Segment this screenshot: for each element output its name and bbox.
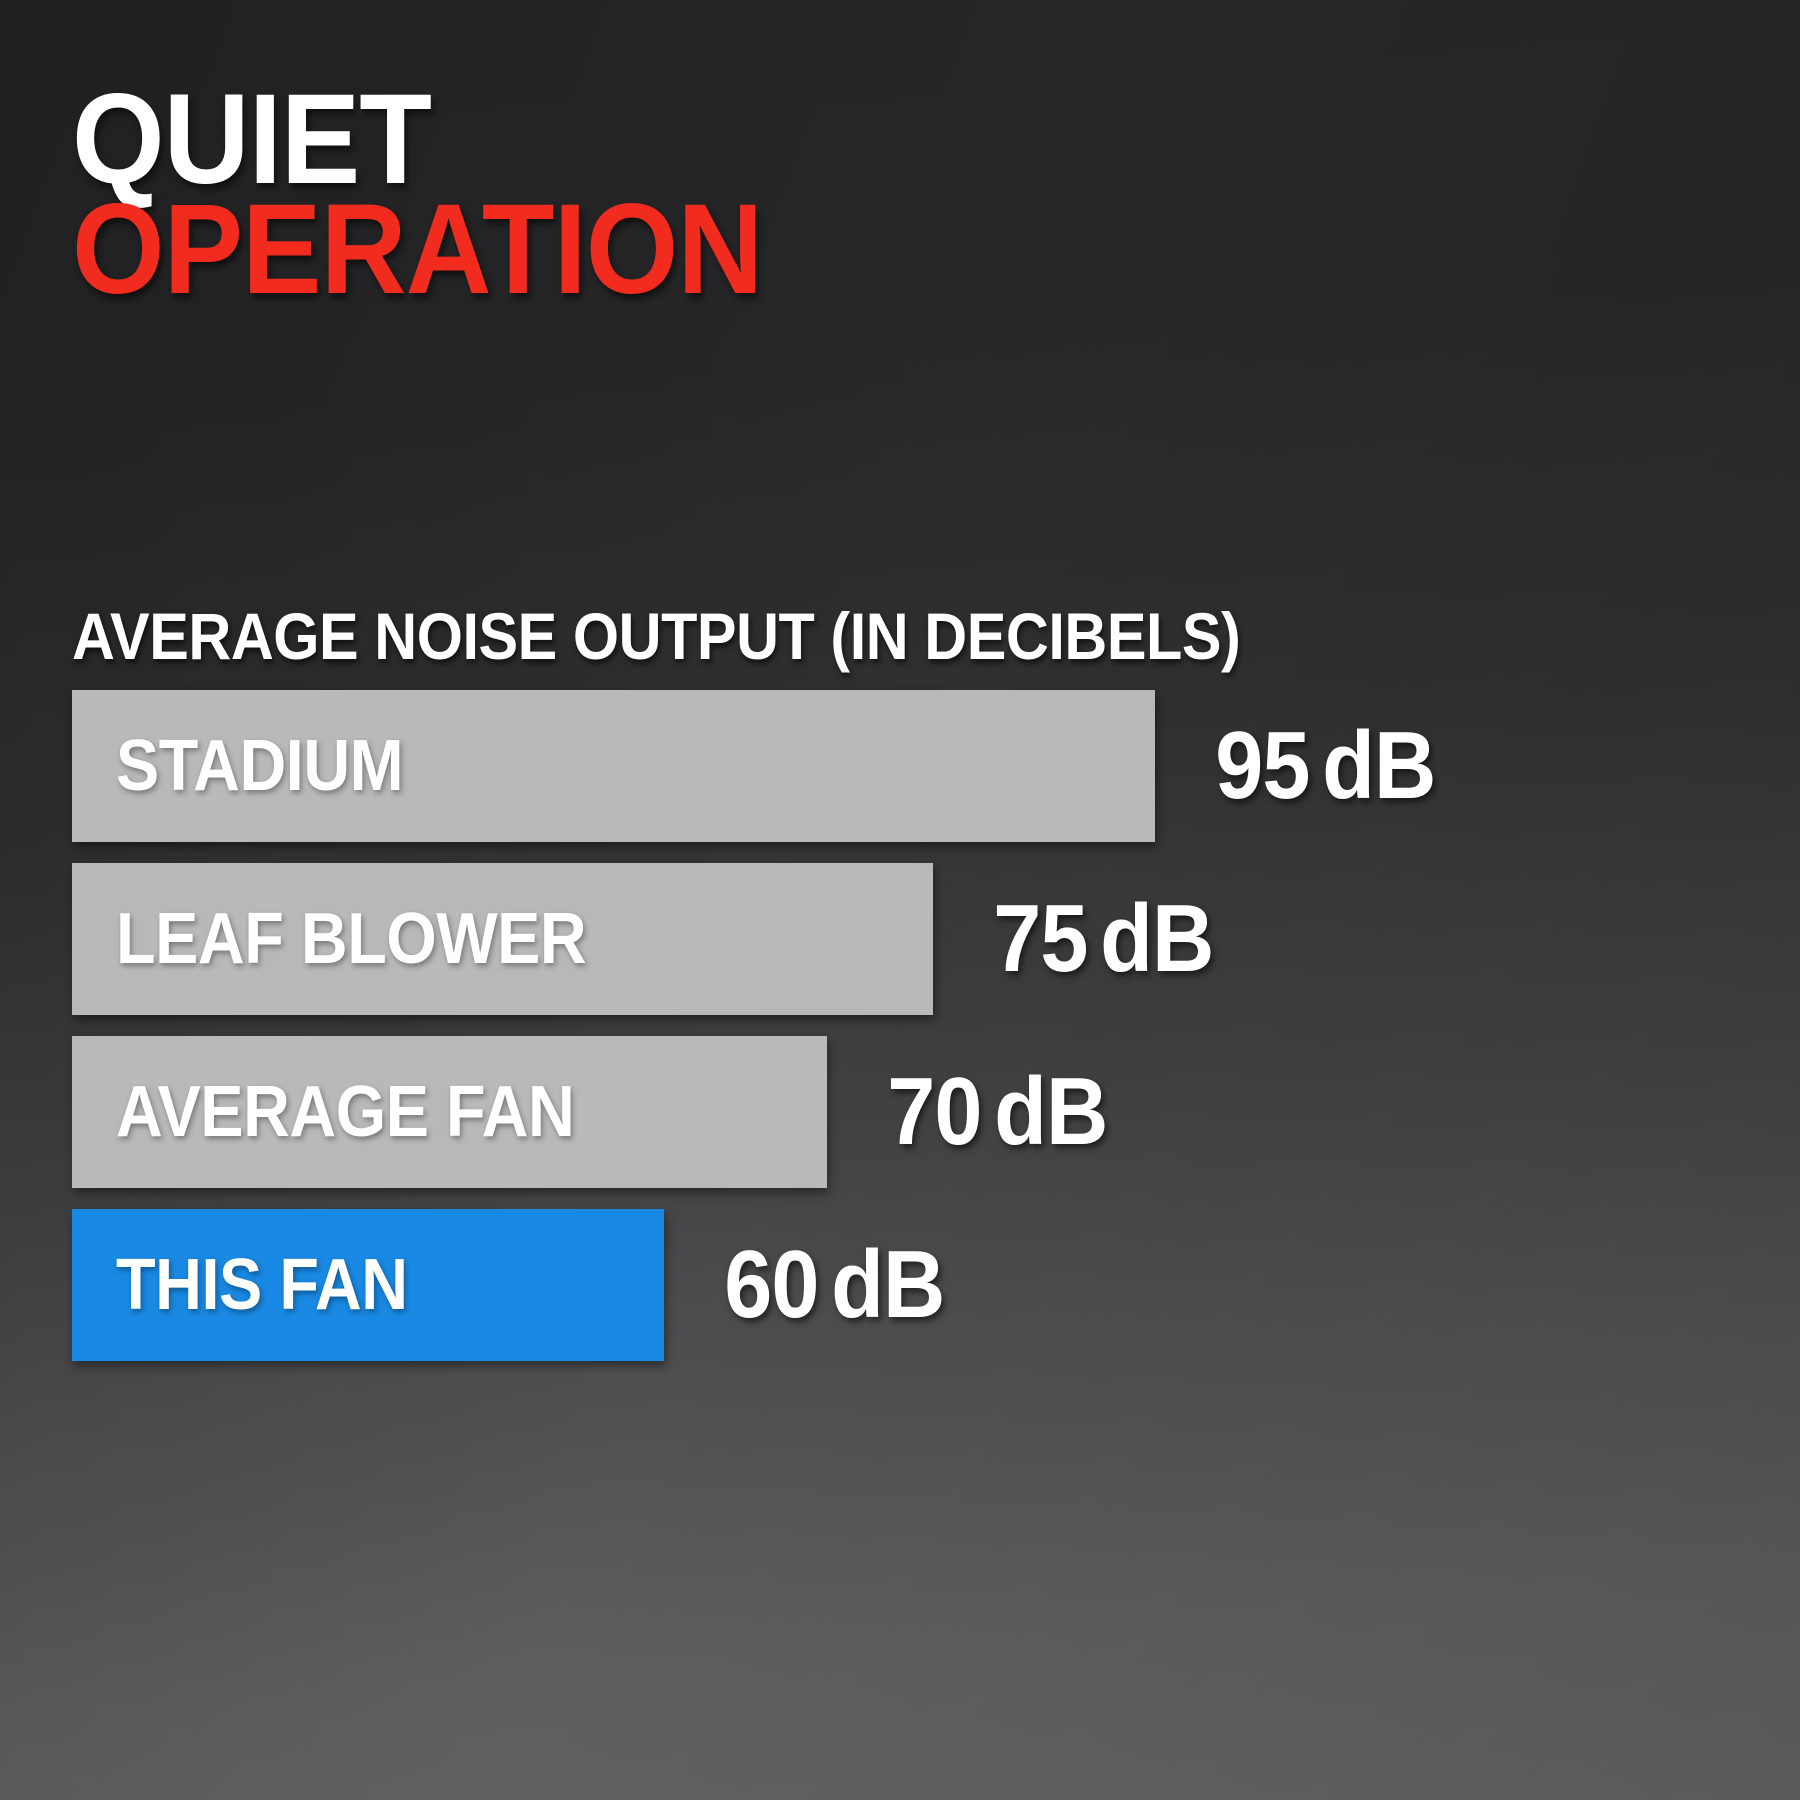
bar-this-fan: THIS FAN: [72, 1209, 664, 1361]
bar-value-number-leaf-blower: 75: [993, 884, 1087, 994]
headline-line-2: OPERATION: [72, 196, 762, 304]
bar-value-number-stadium: 95: [1215, 711, 1309, 821]
bar-label-stadium: STADIUM: [116, 725, 403, 807]
bar-value-leaf-blower: 75 dB: [993, 863, 1213, 1015]
bar-average-fan: AVERAGE FAN: [72, 1036, 827, 1188]
bar-value-average-fan: 70 dB: [887, 1036, 1107, 1188]
bar-row-stadium: STADIUM 95 dB: [72, 690, 1448, 842]
bar-value-unit-stadium: dB: [1322, 711, 1435, 821]
bar-label-leaf-blower: LEAF BLOWER: [116, 898, 586, 980]
bar-row-this-fan: THIS FAN 60 dB: [72, 1209, 957, 1361]
bar-leaf-blower: LEAF BLOWER: [72, 863, 933, 1015]
bar-label-this-fan: THIS FAN: [116, 1244, 408, 1326]
headline: QUIET OPERATION: [72, 86, 814, 303]
infographic-slide: QUIET OPERATION AVERAGE NOISE OUTPUT (IN…: [0, 0, 1800, 1800]
bar-value-number-this-fan: 60: [724, 1230, 818, 1340]
bar-row-leaf-blower: LEAF BLOWER 75 dB: [72, 863, 1226, 1015]
bar-value-number-average-fan: 70: [887, 1057, 981, 1167]
chart-subheading: AVERAGE NOISE OUTPUT (IN DECIBELS): [72, 598, 1240, 674]
bar-value-stadium: 95 dB: [1215, 690, 1435, 842]
bar-value-unit-this-fan: dB: [831, 1230, 944, 1340]
bar-value-unit-leaf-blower: dB: [1100, 884, 1213, 994]
bar-stadium: STADIUM: [72, 690, 1155, 842]
bar-label-average-fan: AVERAGE FAN: [116, 1071, 574, 1153]
bar-row-average-fan: AVERAGE FAN 70 dB: [72, 1036, 1120, 1188]
bar-value-this-fan: 60 dB: [724, 1209, 944, 1361]
bar-value-unit-average-fan: dB: [994, 1057, 1107, 1167]
